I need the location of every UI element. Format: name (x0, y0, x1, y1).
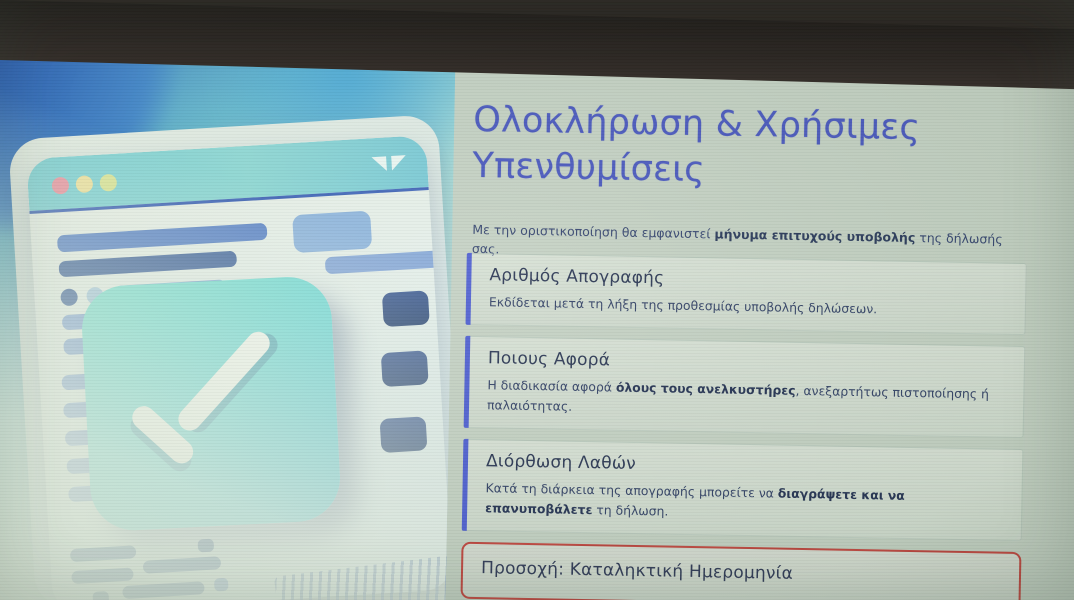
illustration-light-wash (0, 22, 456, 600)
projected-slide-photo: ◥◤ (0, 0, 1074, 600)
wall-above-screen (0, 0, 1074, 60)
reminder-card-list: Αριθμός Απογραφής Εκδίδεται μετά τη λήξη… (460, 253, 1026, 600)
card-accent-bar (466, 253, 472, 325)
card-body-pre: Εκδίδεται μετά τη λήξη της προθεσμίας υπ… (489, 294, 877, 316)
card-body: Εκδίδεται μετά τη λήξη της προθεσμίας υπ… (489, 292, 1009, 322)
slide-surface: ◥◤ (0, 22, 1074, 600)
card-heading: Διόρθωση Λαθών (486, 451, 1006, 481)
card-body-pre: Η διαδικασία αφορά (487, 377, 616, 394)
card-body: Κατά τη διάρκεια της απογραφής μπορείτε … (485, 478, 1006, 528)
card-body-pre: Κατά τη διάρκεια της απογραφής μπορείτε … (485, 480, 778, 500)
slide-illustration: ◥◤ (0, 22, 456, 600)
reminder-card: Ποιους Αφορά Η διαδικασία αφορά όλους το… (464, 336, 1026, 438)
subtitle-text-pre: Με την οριστικοποίηση θα εμφανιστεί (472, 222, 714, 241)
card-heading: Ποιους Αφορά (488, 348, 1008, 378)
page-title: Ολοκλήρωση & Χρήσιμες Υπενθυμίσεις (472, 97, 1034, 200)
reminder-card: Αριθμός Απογραφής Εκδίδεται μετά τη λήξη… (466, 253, 1027, 335)
subtitle-text-bold: μήνυμα επιτυχούς υποβολής (714, 226, 915, 245)
card-accent-bar (464, 336, 471, 428)
card-heading: Αριθμός Απογραφής (489, 265, 1009, 295)
card-body-bold: όλους τους ανελκυστήρες (616, 380, 796, 398)
warning-card: Προσοχή: Καταληκτική Ημερομηνία (461, 542, 1022, 600)
card-body: Η διαδικασία αφορά όλους τους ανελκυστήρ… (487, 375, 1008, 425)
reminder-card: Διόρθωση Λαθών Κατά τη διάρκεια της απογ… (462, 439, 1024, 541)
card-heading: Προσοχή: Καταληκτική Ημερομηνία (481, 559, 1003, 589)
card-accent-bar (462, 439, 469, 531)
slide-content: Ολοκλήρωση & Χρήσιμες Υπενθυμίσεις Με τη… (464, 31, 1065, 600)
card-body-post: τη δήλωση. (592, 503, 668, 519)
